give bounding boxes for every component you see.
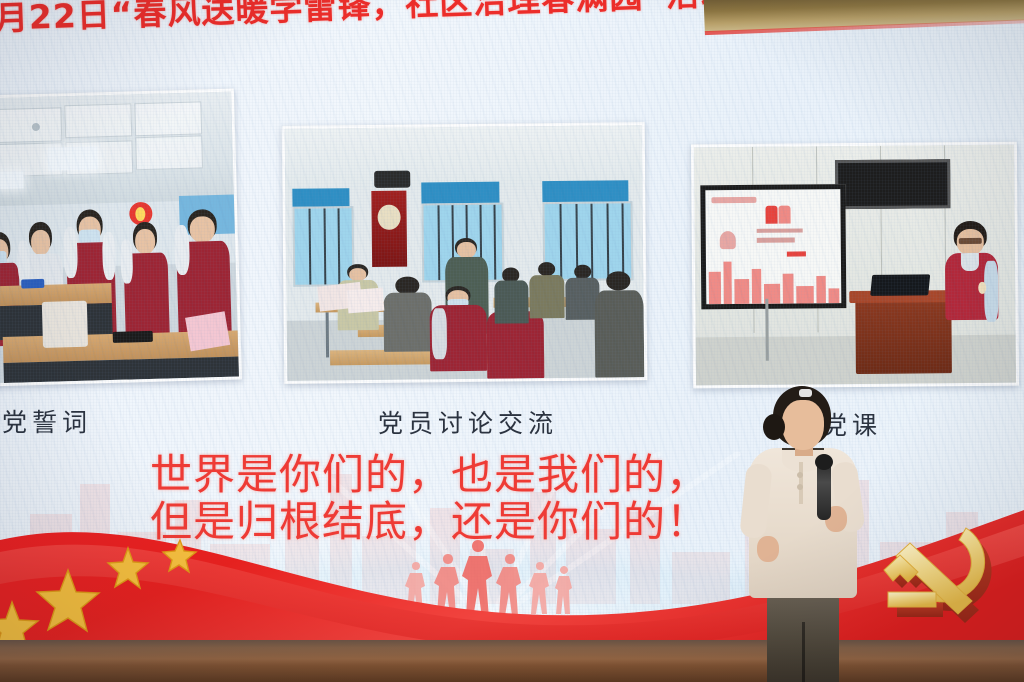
presenter-leg-split: [802, 622, 805, 682]
slogan-line-2: 但是归根结底，还是你们的！: [150, 498, 709, 545]
slogan-text: 世界是你们的，也是我们的， 但是归根结底，还是你们的！: [150, 451, 709, 545]
presenter-face: [782, 400, 824, 450]
slide-title-text: 月22日“春风送暖学雷锋，社区治理春满园”活动: [0, 0, 735, 40]
photo-oath: [0, 88, 242, 386]
caption-photo-oath: 入党誓词: [0, 403, 92, 439]
photo-lecture: [691, 142, 1019, 389]
presenter-figure: [737, 386, 869, 682]
slogan-line-1: 世界是你们的，也是我们的，: [150, 451, 709, 498]
caption-photo-discussion: 党员讨论交流: [378, 404, 558, 440]
stage-floor-gloss: [0, 640, 1024, 682]
microphone-icon: [817, 462, 831, 520]
presenter-left-hand: [757, 536, 779, 562]
screenshot-stage: 入党誓词 党员讨论交流 微党课 世界是你们的，也是我们的， 但是归根结底，还是你…: [0, 0, 1024, 682]
microphone-head: [815, 454, 833, 470]
presenter-hair-bun: [763, 414, 785, 440]
presenter-hair-clip: [799, 389, 812, 397]
presenter-placket: [799, 462, 803, 504]
photo-discussion: [282, 122, 648, 384]
hammer-and-sickle-icon: [870, 516, 1016, 634]
